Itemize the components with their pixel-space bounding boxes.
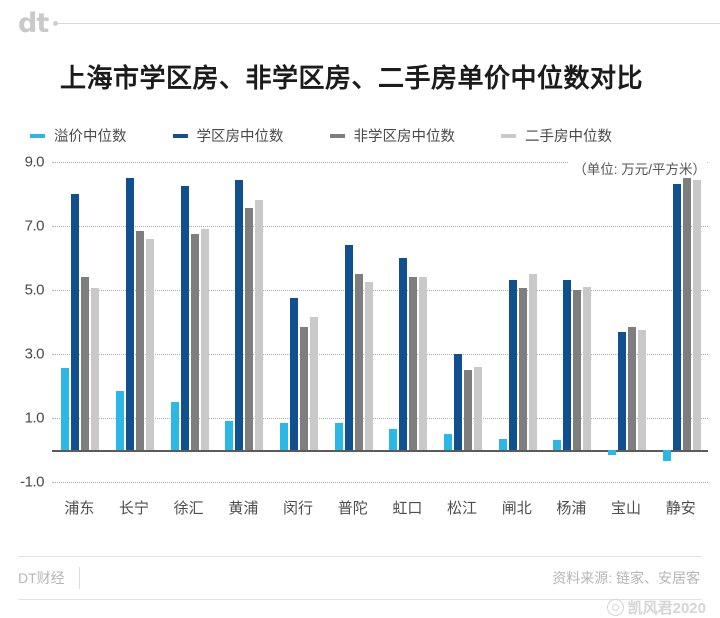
bar-闸北-3[interactable] (529, 274, 537, 450)
bar-松江-3[interactable] (474, 367, 482, 450)
bar-杨浦-1[interactable] (563, 280, 571, 450)
legend-item-1[interactable]: 学区房中位数 (173, 125, 284, 146)
bar-黄浦-1[interactable] (235, 180, 243, 450)
bar-宝山-1[interactable] (618, 332, 626, 450)
plot-area: （单位: 万元/平方米） 9.07.05.03.01.0-1.0 (0, 162, 720, 482)
x-axis-label-闵行: 闵行 (271, 497, 326, 518)
bar-闵行-2[interactable] (300, 327, 308, 450)
bar-group-杨浦 (544, 162, 599, 482)
bar-group-徐汇 (161, 162, 216, 482)
bar-浦东-0[interactable] (61, 368, 69, 450)
legend-item-2[interactable]: 非学区房中位数 (330, 125, 456, 146)
x-axis-label-普陀: 普陀 (325, 497, 380, 518)
legend-swatch-icon (30, 134, 45, 138)
bar-徐汇-3[interactable] (201, 229, 209, 450)
bar-group-宝山 (599, 162, 654, 482)
x-axis-label-闸北: 闸北 (489, 497, 544, 518)
bar-虹口-2[interactable] (409, 277, 417, 450)
x-axis-label-松江: 松江 (435, 497, 490, 518)
bar-徐汇-2[interactable] (191, 234, 199, 450)
x-axis-labels: 浦东长宁徐汇黄浦闵行普陀虹口松江闸北杨浦宝山静安 (52, 497, 708, 518)
x-axis-label-黄浦: 黄浦 (216, 497, 271, 518)
bar-徐汇-0[interactable] (171, 402, 179, 450)
bar-普陀-3[interactable] (365, 282, 373, 450)
footer-divider-icon (79, 567, 80, 589)
bar-松江-1[interactable] (454, 354, 462, 450)
bar-静安-1[interactable] (673, 184, 681, 450)
bar-group-黄浦 (216, 162, 271, 482)
bar-杨浦-0[interactable] (553, 440, 561, 450)
bar-普陀-0[interactable] (335, 423, 343, 450)
header-divider (58, 23, 720, 24)
legend-item-3[interactable]: 二手房中位数 (501, 125, 612, 146)
bar-虹口-1[interactable] (399, 258, 407, 450)
bar-浦东-1[interactable] (71, 194, 79, 450)
x-axis-label-静安: 静安 (653, 497, 708, 518)
y-axis-tick-label: 5.0 (25, 282, 44, 299)
bar-group-松江 (435, 162, 490, 482)
bar-静安-2[interactable] (683, 178, 691, 450)
weibo-icon (607, 599, 624, 616)
x-axis-label-浦东: 浦东 (52, 497, 107, 518)
x-axis-label-虹口: 虹口 (380, 497, 435, 518)
legend-swatch-icon (173, 134, 188, 138)
footer-brand-label: DT财经 (18, 568, 65, 588)
bar-group-长宁 (107, 162, 162, 482)
bar-长宁-0[interactable] (116, 391, 124, 450)
bar-浦东-3[interactable] (91, 288, 99, 450)
bar-黄浦-2[interactable] (245, 208, 253, 450)
gridline (52, 482, 708, 483)
y-axis-tick-label: -1.0 (20, 474, 44, 491)
unit-annotation: （单位: 万元/平方米） (569, 158, 706, 178)
bar-闸北-1[interactable] (509, 280, 517, 450)
footer-source: 资料来源: 链家、安居客 (552, 568, 702, 588)
bar-group-闸北 (489, 162, 544, 482)
bar-静安-0[interactable] (663, 450, 671, 461)
y-axis: 9.07.05.03.01.0-1.0 (0, 162, 52, 482)
chart-legend: 溢价中位数学区房中位数非学区房中位数二手房中位数 (0, 95, 720, 146)
bar-徐汇-1[interactable] (181, 186, 189, 450)
footer: DT财经 资料来源: 链家、安居客 (18, 556, 702, 600)
bar-虹口-0[interactable] (389, 429, 397, 450)
bar-杨浦-3[interactable] (583, 287, 591, 450)
x-axis-label-长宁: 长宁 (107, 497, 162, 518)
dt-logo-icon: dt (18, 10, 48, 37)
legend-label: 非学区房中位数 (354, 125, 456, 146)
bar-普陀-2[interactable] (355, 274, 363, 450)
bar-闵行-1[interactable] (290, 298, 298, 450)
bar-长宁-1[interactable] (126, 178, 134, 450)
bar-松江-2[interactable] (464, 370, 472, 450)
legend-label: 二手房中位数 (525, 125, 612, 146)
y-axis-tick-label: 3.0 (25, 346, 44, 363)
bar-group-静安 (653, 162, 708, 482)
bar-静安-3[interactable] (693, 180, 701, 450)
x-axis-label-宝山: 宝山 (599, 497, 654, 518)
x-axis-label-徐汇: 徐汇 (161, 497, 216, 518)
bar-group-浦东 (52, 162, 107, 482)
watermark-label: 凯风君2020 (628, 597, 706, 618)
bar-杨浦-2[interactable] (573, 290, 581, 450)
legend-swatch-icon (330, 134, 345, 138)
page-title: 上海市学区房、非学区房、二手房单价中位数对比 (0, 46, 720, 95)
x-axis-label-杨浦: 杨浦 (544, 497, 599, 518)
legend-label: 溢价中位数 (54, 125, 127, 146)
bar-普陀-1[interactable] (345, 245, 353, 450)
legend-label: 学区房中位数 (197, 125, 284, 146)
legend-swatch-icon (501, 134, 516, 138)
bar-浦东-2[interactable] (81, 277, 89, 450)
bar-黄浦-0[interactable] (225, 421, 233, 450)
y-axis-tick-label: 1.0 (25, 410, 44, 427)
bar-series-layer (52, 162, 708, 482)
bar-虹口-3[interactable] (419, 277, 427, 450)
bar-长宁-2[interactable] (136, 231, 144, 450)
bar-宝山-2[interactable] (628, 327, 636, 450)
footer-brand: DT财经 (18, 567, 80, 589)
watermark: 凯风君2020 (607, 597, 706, 618)
bar-闸北-2[interactable] (519, 288, 527, 450)
brand-header: dt (0, 0, 720, 46)
bar-黄浦-3[interactable] (255, 200, 263, 450)
bar-group-虹口 (380, 162, 435, 482)
bar-group-普陀 (325, 162, 380, 482)
bar-闵行-3[interactable] (310, 317, 318, 450)
bar-闵行-0[interactable] (280, 423, 288, 450)
bar-宝山-3[interactable] (638, 330, 646, 450)
y-axis-tick-label: 7.0 (25, 218, 44, 235)
bar-group-闵行 (271, 162, 326, 482)
bar-宝山-0[interactable] (608, 450, 616, 455)
legend-item-0[interactable]: 溢价中位数 (30, 125, 127, 146)
bar-长宁-3[interactable] (146, 239, 154, 450)
bar-闸北-0[interactable] (499, 439, 507, 450)
bar-松江-0[interactable] (444, 434, 452, 450)
y-axis-tick-label: 9.0 (25, 154, 44, 171)
